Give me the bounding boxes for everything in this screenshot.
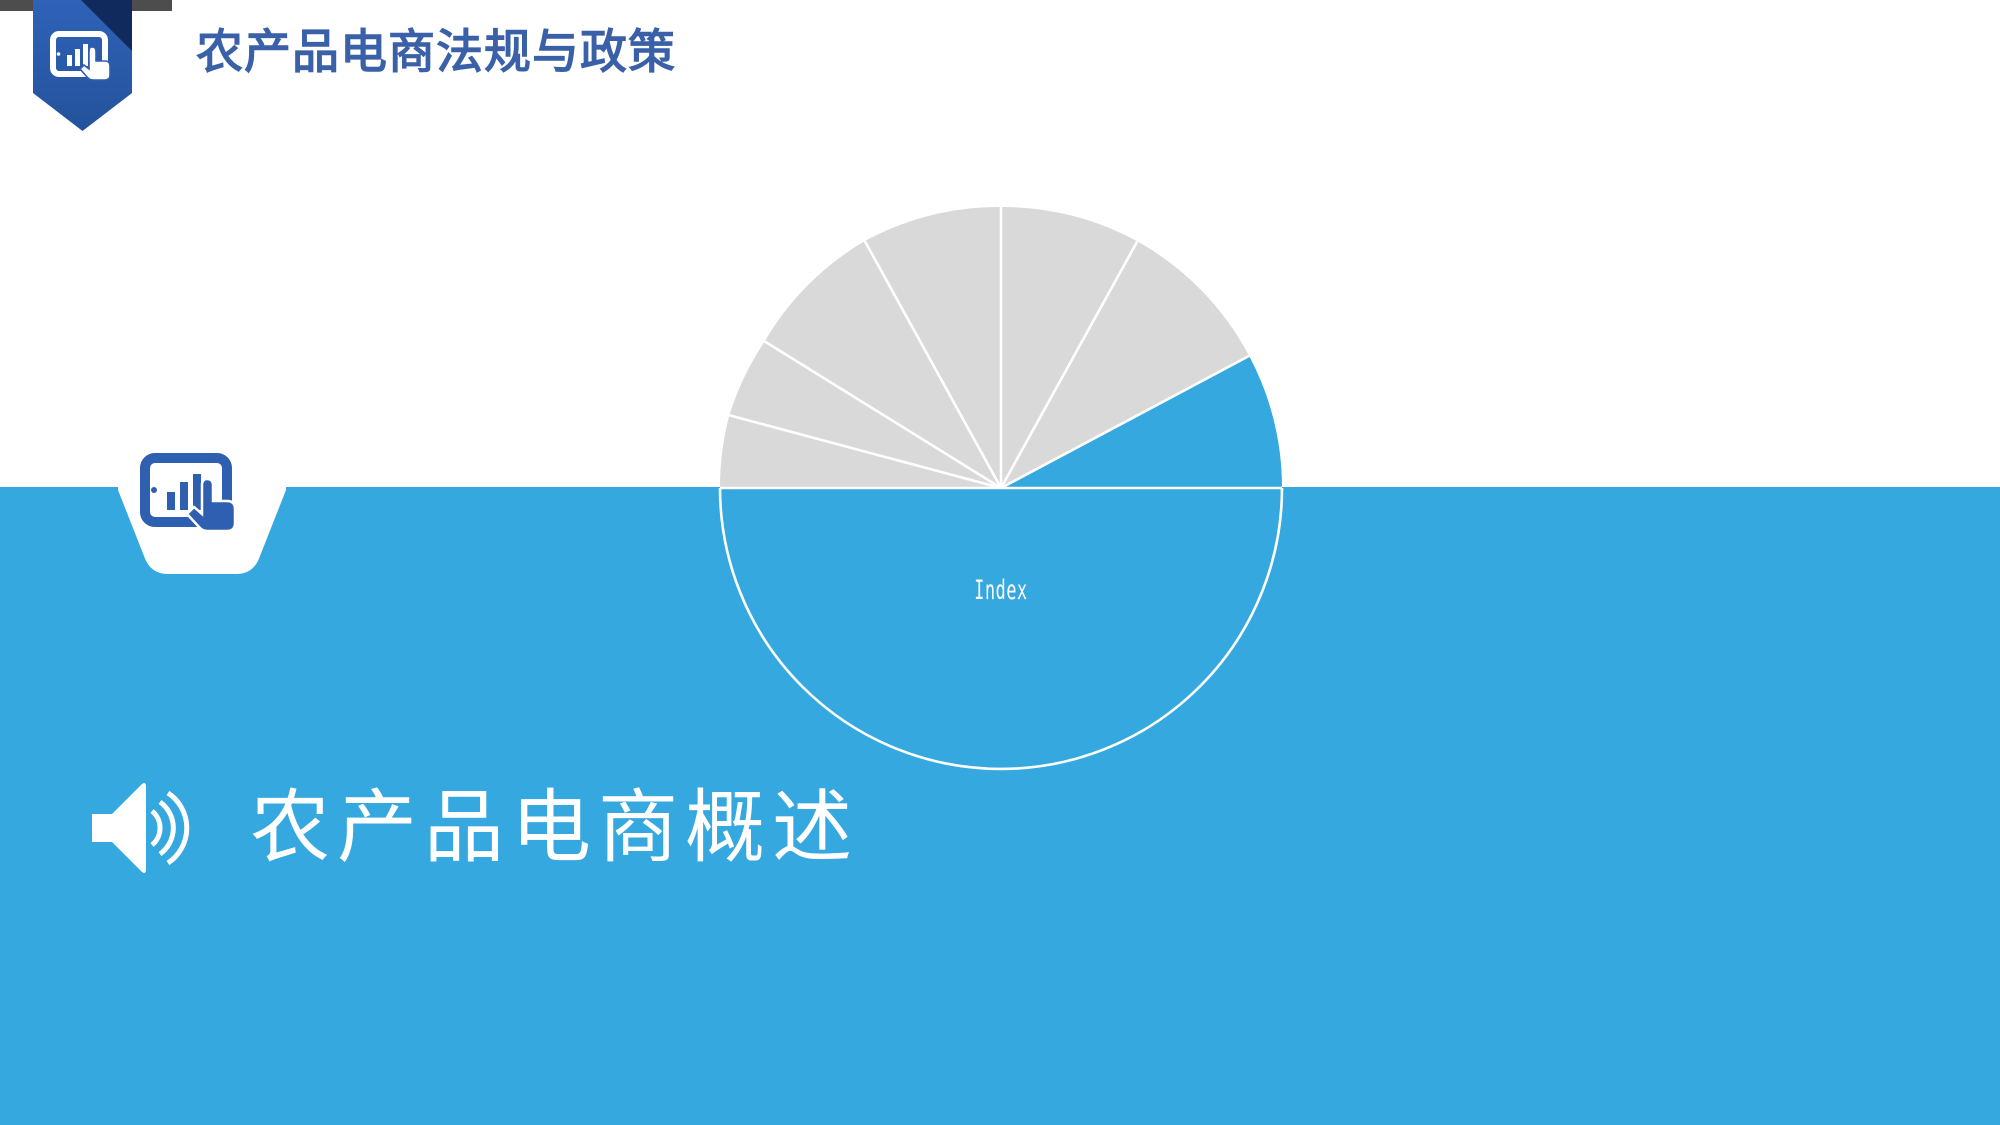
pie-svg: [716, 203, 1286, 773]
pie-slice-bottom-half: [720, 488, 1282, 769]
ribbon-tablet-chart-icon: [47, 28, 117, 84]
page-title: 农产品电商法规与政策: [196, 22, 676, 84]
index-pie-chart: [716, 203, 1286, 773]
section-title: 农产品电商概述: [250, 778, 859, 878]
slide-canvas: 农产品电商法规与政策: [0, 0, 2000, 1125]
section-heading-row: 农产品电商概述: [86, 773, 859, 883]
tab-tablet-chart-icon: [136, 449, 246, 537]
header-ribbon: [33, 0, 132, 131]
pie-center-label: Index: [824, 575, 1177, 606]
speaker-sound-icon: [86, 778, 198, 878]
